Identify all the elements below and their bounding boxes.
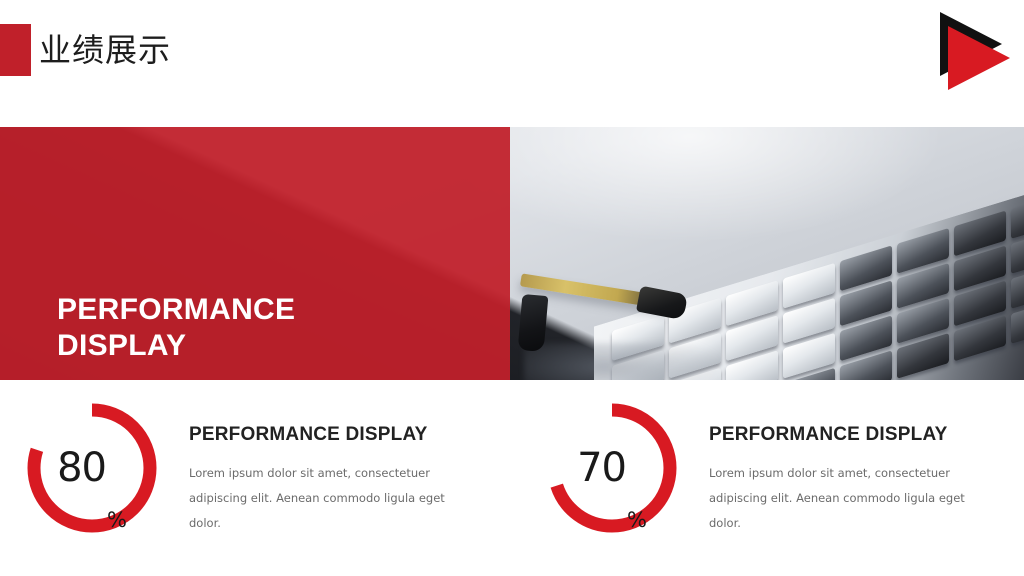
banner-title-line-1: PERFORMANCE <box>57 293 295 326</box>
hero-banner: PERFORMANCE DISPLAY Lorem ipsum dolor si… <box>0 127 1024 380</box>
slide-header: 业绩展示 <box>0 0 1024 127</box>
stat-card-1: 80 % PERFORMANCE DISPLAY Lorem ipsum dol… <box>22 398 492 558</box>
slide-root: 业绩展示 <box>0 0 1024 576</box>
stat-copy-1: PERFORMANCE DISPLAY Lorem ipsum dolor si… <box>189 423 467 536</box>
banner-title-line-2: DISPLAY <box>57 329 186 362</box>
sunglasses-lens <box>518 294 549 352</box>
stats-section: 80 % PERFORMANCE DISPLAY Lorem ipsum dol… <box>0 380 1024 576</box>
page-title: 业绩展示 <box>39 27 171 73</box>
donut-unit-2: % <box>627 508 647 532</box>
stat-text-2: Lorem ipsum dolor sit amet, consectetuer… <box>709 461 987 536</box>
stat-card-2: 70 % PERFORMANCE DISPLAY Lorem ipsum dol… <box>542 398 1012 558</box>
donut-unit-1: % <box>107 508 127 532</box>
stat-text-1: Lorem ipsum dolor sit amet, consectetuer… <box>189 461 467 536</box>
stat-title-1: PERFORMANCE DISPLAY <box>189 423 467 447</box>
play-triangle-logo-icon <box>934 10 1014 92</box>
donut-label-2: 70 % <box>542 398 682 538</box>
banner-copy: PERFORMANCE DISPLAY Lorem ipsum dolor si… <box>57 292 487 380</box>
donut-label-1: 80 % <box>22 398 162 538</box>
sunglasses-object <box>520 265 740 380</box>
donut-value-2: 70 <box>577 448 626 488</box>
stat-copy-2: PERFORMANCE DISPLAY Lorem ipsum dolor si… <box>709 423 987 536</box>
sunglasses-hinge <box>636 286 688 321</box>
header-accent-block <box>0 24 31 76</box>
banner-title: PERFORMANCE DISPLAY <box>57 292 487 364</box>
donut-chart-2: 70 % <box>542 398 682 538</box>
stat-title-2: PERFORMANCE DISPLAY <box>709 423 987 447</box>
donut-chart-1: 80 % <box>22 398 162 538</box>
sunglasses-shadow <box>524 343 724 380</box>
donut-value-1: 80 <box>57 448 106 488</box>
